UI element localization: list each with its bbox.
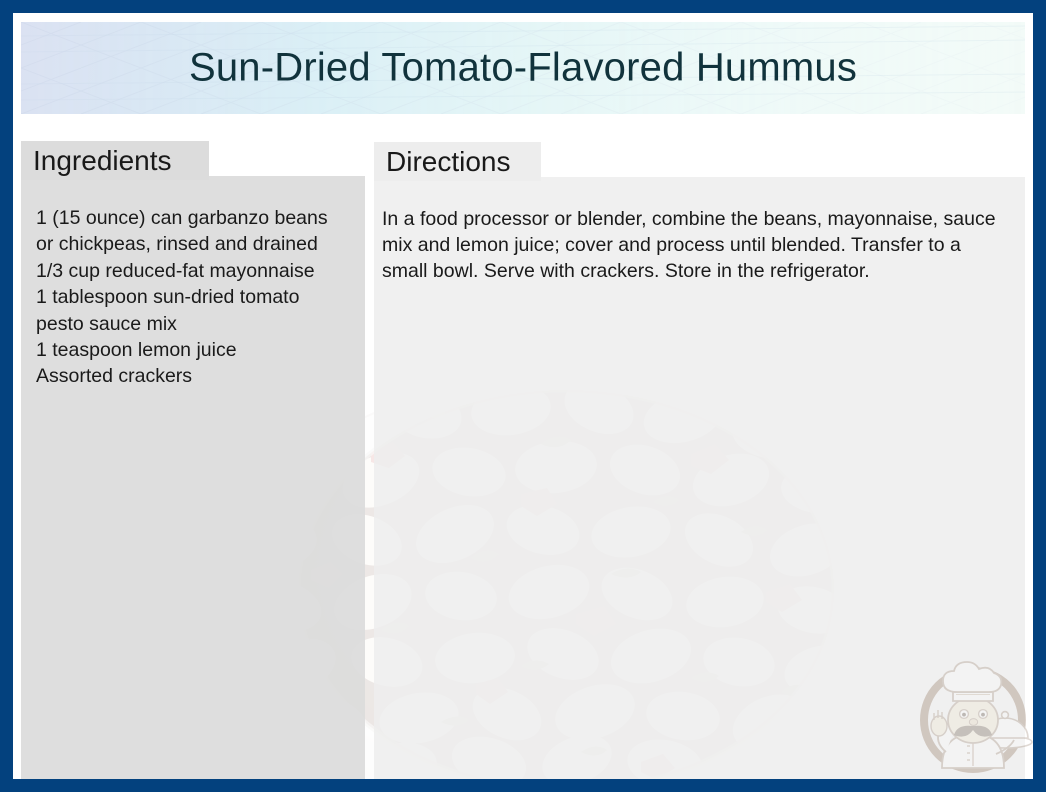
ingredients-list: 1 (15 ounce) can garbanzo beans or chick… bbox=[36, 205, 366, 390]
recipe-card: Sun-Dried Tomato-Flavored Hummus bbox=[0, 0, 1046, 792]
page-title: Sun-Dried Tomato-Flavored Hummus bbox=[21, 46, 1025, 91]
list-item: 1 (15 ounce) can garbanzo beans bbox=[36, 205, 366, 231]
list-item: Assorted crackers bbox=[36, 363, 366, 389]
tab-ingredients[interactable]: Ingredients bbox=[21, 141, 209, 180]
list-item: 1 teaspoon lemon juice bbox=[36, 337, 366, 363]
directions-text: In a food processor or blender, combine … bbox=[382, 207, 1004, 284]
title-banner: Sun-Dried Tomato-Flavored Hummus bbox=[21, 22, 1025, 114]
list-item: pesto sauce mix bbox=[36, 311, 366, 337]
list-item: 1 tablespoon sun-dried tomato bbox=[36, 284, 366, 310]
recipe-card-inner: Sun-Dried Tomato-Flavored Hummus bbox=[13, 13, 1033, 779]
list-item: 1/3 cup reduced-fat mayonnaise bbox=[36, 258, 366, 284]
tab-directions[interactable]: Directions bbox=[374, 142, 541, 181]
list-item: or chickpeas, rinsed and drained bbox=[36, 231, 366, 257]
chef-logo-icon bbox=[912, 656, 1034, 778]
